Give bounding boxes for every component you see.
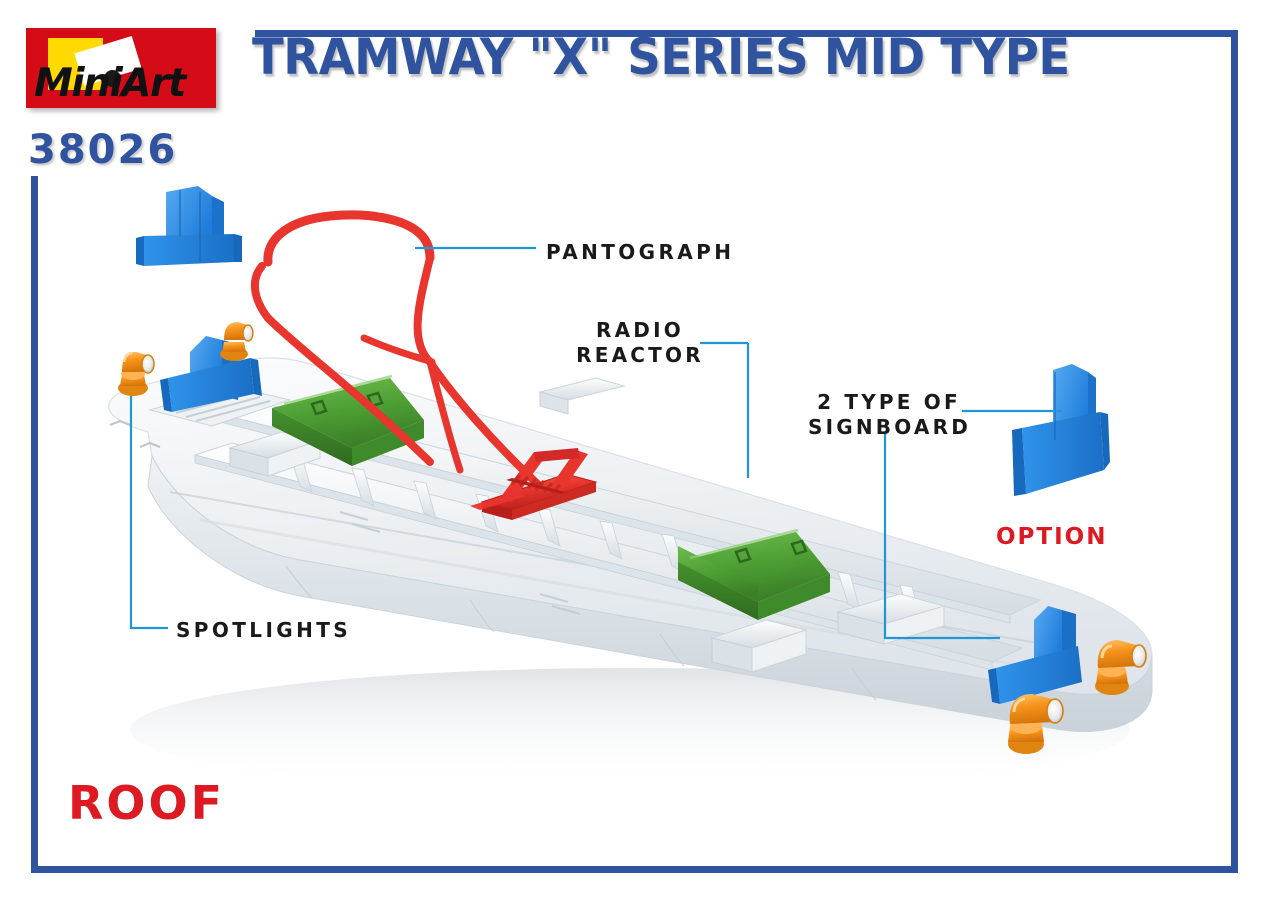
section-title-roof: ROOF	[68, 778, 225, 828]
callout-label-signboard: 2 TYPE OF SIGNBOARD	[808, 390, 970, 440]
callout-label-radio-reactor: RADIO REACTOR	[538, 318, 742, 368]
frame-border-left	[31, 176, 38, 873]
option-label: OPTION	[996, 524, 1107, 550]
miniart-logo: MiniArt	[26, 28, 216, 108]
signboard-part-option	[1012, 364, 1110, 496]
callout-label-spotlights: SPOTLIGHTS	[176, 618, 351, 643]
signboard-part-top-left	[136, 186, 242, 266]
page-title: TRAMWAY "X" SERIES MID TYPE	[252, 28, 1108, 90]
callout-label-pantograph: PANTOGRAPH	[546, 240, 734, 265]
instruction-sheet-page: MiniArt TRAMWAY "X" SERIES MID TYPE 3802…	[0, 0, 1273, 900]
logo-wordmark: MiniArt	[34, 64, 210, 103]
frame-border-right	[1231, 30, 1238, 873]
frame-border-bottom	[31, 866, 1238, 873]
tram-roof-illustration	[0, 0, 1273, 900]
kit-number: 38026	[28, 128, 177, 172]
